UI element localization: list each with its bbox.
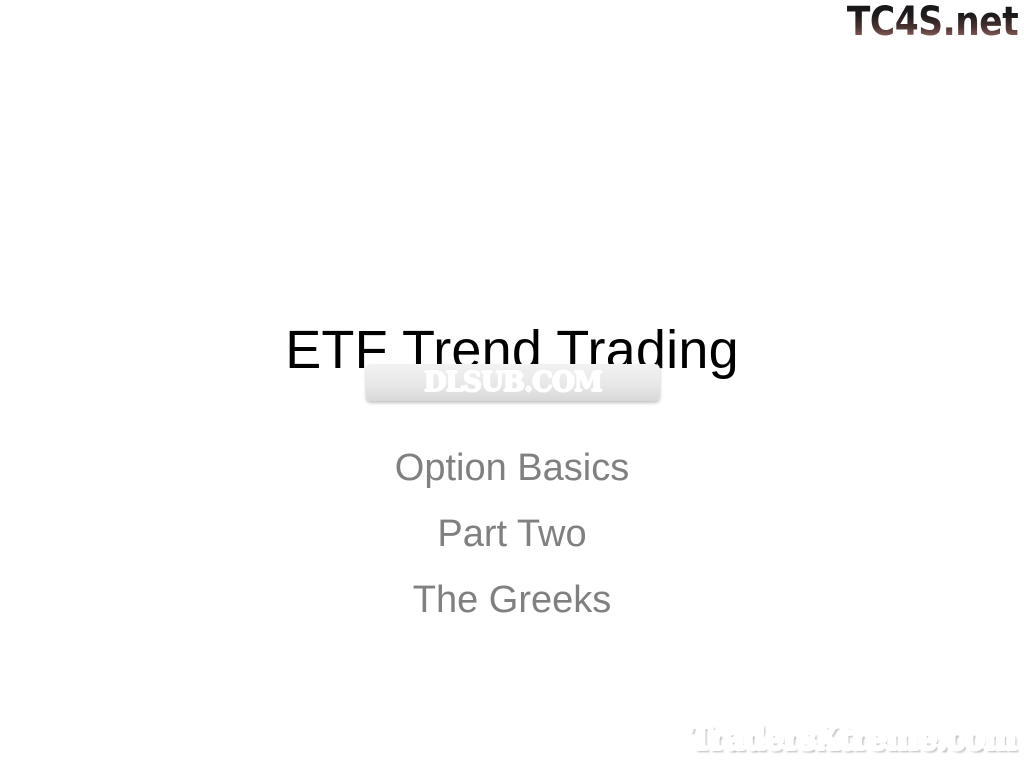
dlsub-watermark-text: DLSUB.COM: [424, 368, 602, 397]
tradersxtreme-logo-text: TradersXtreme.com: [689, 719, 1015, 757]
tc4s-watermark: TC4S.net: [847, 0, 1018, 44]
presentation-slide: TC4S.net ETF Trend Trading DLSUB.COM Opt…: [0, 0, 1024, 768]
subtitle-line-2: Part Two: [0, 512, 1024, 556]
subtitle-line-3: The Greeks: [0, 578, 1024, 622]
tradersxtreme-logo: TradersXtreme.com: [688, 714, 1016, 762]
dlsub-watermark-banner: DLSUB.COM: [366, 364, 660, 401]
subtitle-line-1: Option Basics: [0, 446, 1024, 490]
